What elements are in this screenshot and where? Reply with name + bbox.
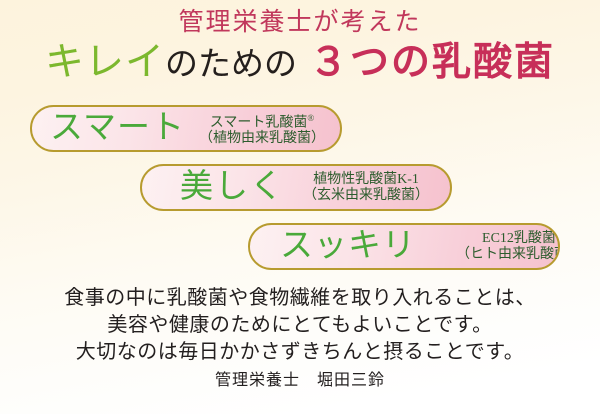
signature-dietitian: 管理栄養士 堀田三鈴 <box>0 371 600 391</box>
headline-block: 管理栄養士が考えた キレイのための３つの乳酸菌 <box>0 0 600 89</box>
headline-three-lactobacillus-text: ３つの乳酸菌 <box>309 41 555 84</box>
headline-notameno-text: のための <box>165 47 297 83</box>
benefit-note-smart-line2: （植物由来乳酸菌） <box>199 131 325 146</box>
benefit-note-smart: スマート乳酸菌® （植物由来乳酸菌） <box>199 110 325 148</box>
headline-line-2: キレイのための３つの乳酸菌 <box>0 39 600 89</box>
registered-trademark-icon: ® <box>307 113 314 123</box>
body-copy-block: 食事の中に乳酸菌や食物繊維を取り入れることは、 美容や健康のためにとてもよいこと… <box>0 285 600 366</box>
benefit-note-beautiful-line2: （玄米由来乳酸菌） <box>303 188 429 203</box>
benefit-note-refreshed-line1: EC12乳酸菌 <box>482 231 556 246</box>
benefit-note-smart-line1: スマート乳酸菌 <box>210 115 308 130</box>
headline-line-1: 管理栄養士が考えた <box>0 8 600 38</box>
benefit-note-refreshed: EC12乳酸菌 （ヒト由来乳酸菌） <box>456 231 560 263</box>
body-copy-line-3: 大切なのは毎日かかさずきちんと摂ることです。 <box>0 339 600 366</box>
headline-kirei-text: キレイ <box>45 41 165 84</box>
benefit-pill-beautiful: 美しく 植物性乳酸菌K-1 （玄米由来乳酸菌） <box>140 164 452 211</box>
benefit-note-beautiful-line1: 植物性乳酸菌K-1 <box>313 172 419 187</box>
body-copy-line-1: 食事の中に乳酸菌や食物繊維を取り入れることは、 <box>0 285 600 312</box>
benefit-word-refreshed: スッキリ <box>280 230 416 263</box>
benefit-pill-refreshed: スッキリ EC12乳酸菌 （ヒト由来乳酸菌） <box>248 223 560 270</box>
benefit-note-refreshed-line2: （ヒト由来乳酸菌） <box>456 247 560 262</box>
benefit-word-smart: スマート <box>50 112 185 145</box>
benefit-pill-smart: スマート スマート乳酸菌® （植物由来乳酸菌） <box>30 105 342 152</box>
benefit-note-beautiful: 植物性乳酸菌K-1 （玄米由来乳酸菌） <box>303 172 429 204</box>
promotional-poster: 管理栄養士が考えた キレイのための３つの乳酸菌 スマート スマート乳酸菌® （植… <box>0 0 600 414</box>
benefit-word-beautiful: 美しく <box>180 171 285 204</box>
body-copy-line-2: 美容や健康のためにとてもよいことです。 <box>0 312 600 339</box>
